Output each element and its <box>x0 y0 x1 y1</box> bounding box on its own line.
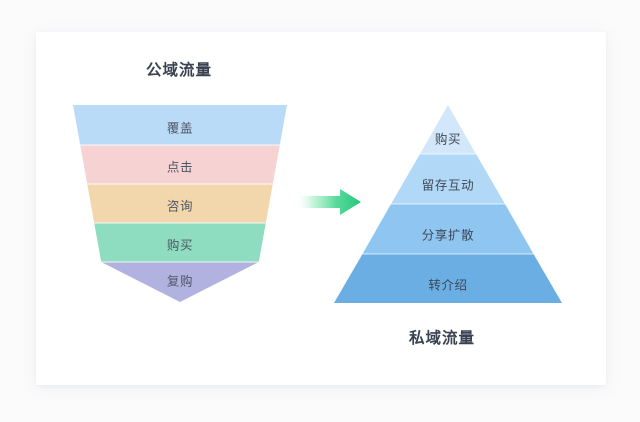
funnel-label-1: 覆盖 <box>167 118 193 137</box>
funnel-label-3: 咨询 <box>167 196 193 215</box>
funnel-label-2: 点击 <box>167 157 193 176</box>
pyramid-label-2: 留存互动 <box>422 175 474 194</box>
diagram-canvas: 公域流量 私域流量 <box>0 0 640 422</box>
pyramid-label-4: 转介绍 <box>428 275 467 294</box>
public-traffic-title: 公域流量 <box>146 58 212 80</box>
pyramid-label-3: 分享扩散 <box>422 225 474 244</box>
private-traffic-title: 私域流量 <box>409 326 475 348</box>
funnel-label-5: 复购 <box>167 271 193 290</box>
funnel-label-4: 购买 <box>167 235 193 254</box>
content-card <box>36 32 606 385</box>
pyramid-label-1: 购买 <box>435 129 461 148</box>
